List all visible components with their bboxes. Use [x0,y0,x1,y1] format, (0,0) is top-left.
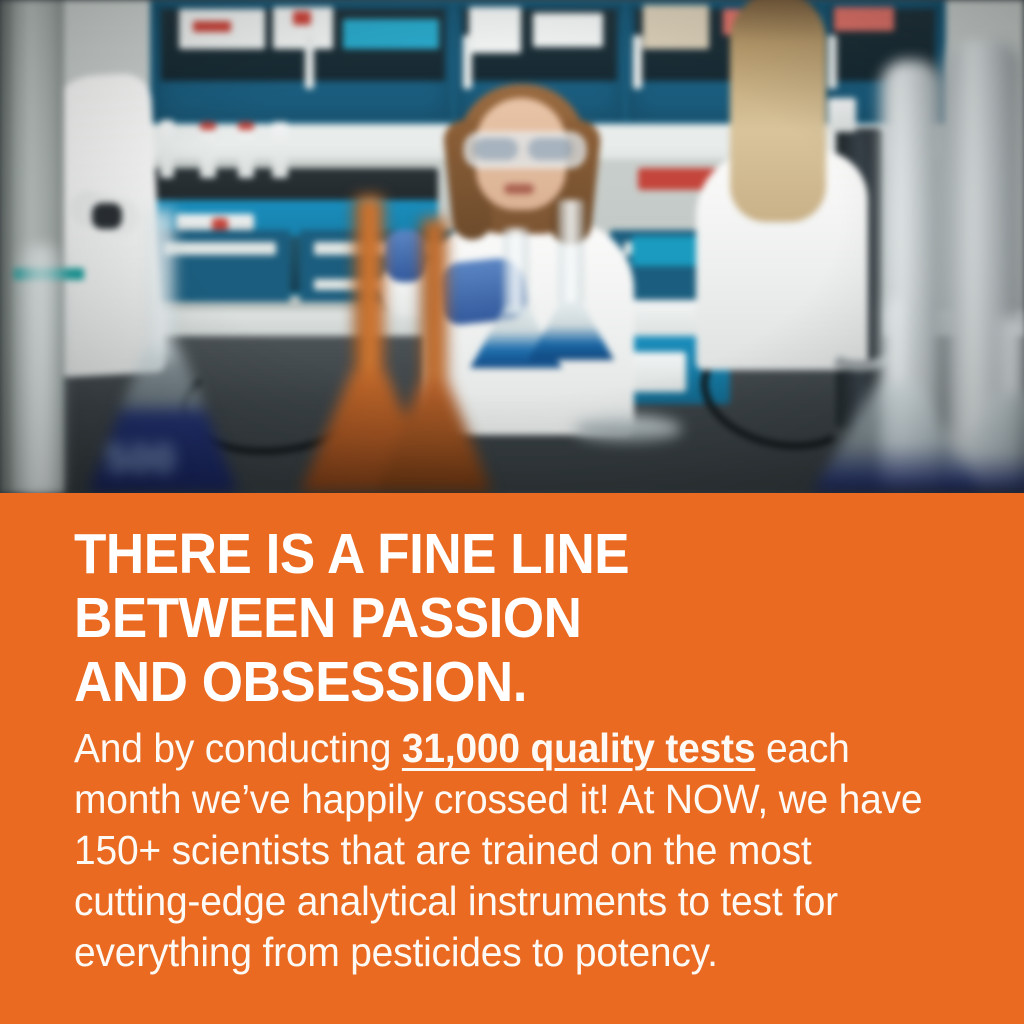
flask-neck [879,300,915,384]
flask-neck [150,210,176,360]
page-title: THERE IS A FINE LINE BETWEEN PASSION AND… [74,522,911,714]
flask-body [938,393,1024,493]
flask-body [376,381,492,493]
volumetric-flask-clear [938,318,1024,493]
volumetric-flask-amber [376,218,492,493]
body-copy: And by conducting 31,000 quality tests e… [74,723,929,978]
body-lead: And by conducting [74,725,402,771]
glass-column [18,245,64,493]
flask-volume-label: 500 [106,437,176,482]
promotional-poster: 500 THERE IS A FINE LINE BETWEEN PASS [0,0,1024,1024]
orange-text-panel: THERE IS A FINE LINE BETWEEN PASSION AND… [0,493,1024,1024]
emphasis-quality-tests: 31,000 quality tests [402,725,755,771]
flask-neck [421,218,447,383]
photo-foreground-layer: 500 [0,0,1024,493]
petri-dish [574,416,682,442]
flask-neck [997,318,1024,394]
laboratory-photo: 500 [0,0,1024,493]
